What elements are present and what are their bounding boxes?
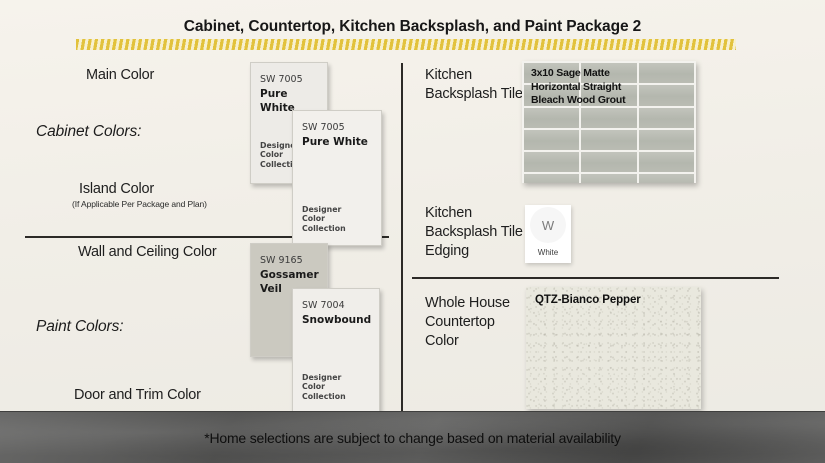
page-title: Cabinet, Countertop, Kitchen Backsplash,… bbox=[0, 18, 825, 36]
edging-swatch-label: White bbox=[525, 248, 571, 257]
right-section-divider bbox=[412, 277, 779, 279]
tile-unit bbox=[639, 108, 694, 128]
vertical-divider bbox=[401, 63, 403, 411]
tile-edging-swatch[interactable]: W White bbox=[525, 205, 571, 263]
paint-chip-name: Snowbound bbox=[302, 313, 370, 327]
paint-chip-card[interactable]: SW 7005 Pure White Designer Color Collec… bbox=[292, 110, 382, 246]
tile-unit bbox=[639, 63, 694, 83]
selection-sheet-slide: Cabinet, Countertop, Kitchen Backsplash,… bbox=[0, 0, 825, 463]
tile-unit bbox=[581, 152, 636, 172]
tile-swatch-caption: 3x10 Sage Matte Horizontal Straight Blea… bbox=[531, 67, 625, 108]
label-island-color: Island Color bbox=[79, 180, 154, 199]
gold-ribbon-divider bbox=[76, 39, 736, 50]
label-kitchen-backsplash-tile-edging: Kitchen Backsplash Tile Edging bbox=[425, 204, 525, 261]
paint-chip-code: SW 7005 bbox=[260, 73, 318, 86]
tile-unit bbox=[524, 130, 579, 150]
footer-band: *Home selections are subject to change b… bbox=[0, 411, 825, 463]
edging-glyph-icon: W bbox=[530, 207, 566, 243]
tile-unit bbox=[524, 108, 579, 128]
paint-chip-code: SW 7004 bbox=[302, 299, 370, 312]
tile-unit bbox=[581, 130, 636, 150]
label-island-color-note: (If Applicable Per Package and Plan) bbox=[72, 199, 207, 210]
label-wall-and-ceiling-color: Wall and Ceiling Color bbox=[78, 243, 238, 262]
tile-unit bbox=[639, 152, 694, 172]
countertop-swatch-caption: QTZ-Bianco Pepper bbox=[535, 294, 641, 306]
paint-chip-collection: Designer Color Collection bbox=[302, 205, 346, 234]
tile-unit bbox=[524, 174, 579, 183]
tile-unit bbox=[639, 130, 694, 150]
paint-chip-collection: Designer Color Collection bbox=[302, 373, 346, 402]
category-cabinet-colors: Cabinet Colors: bbox=[36, 123, 141, 141]
backsplash-tile-swatch[interactable]: 3x10 Sage Matte Horizontal Straight Blea… bbox=[522, 61, 696, 183]
tile-unit bbox=[581, 108, 636, 128]
paint-chip-card[interactable]: SW 7004 Snowbound Designer Color Collect… bbox=[292, 288, 380, 416]
label-whole-house-countertop-color: Whole House Countertop Color bbox=[425, 294, 530, 351]
label-main-color: Main Color bbox=[86, 66, 154, 85]
tile-unit bbox=[524, 152, 579, 172]
paint-chip-code: SW 7005 bbox=[302, 121, 372, 134]
tile-unit bbox=[581, 174, 636, 183]
paint-chip-name: Pure White bbox=[302, 135, 372, 149]
label-door-and-trim-color: Door and Trim Color bbox=[74, 386, 201, 405]
category-paint-colors: Paint Colors: bbox=[36, 318, 123, 336]
tile-unit bbox=[639, 85, 694, 105]
paint-chip-code: SW 9165 bbox=[260, 254, 318, 267]
countertop-swatch[interactable]: QTZ-Bianco Pepper bbox=[526, 287, 701, 409]
tile-unit bbox=[639, 174, 694, 183]
label-kitchen-backsplash-tile: Kitchen Backsplash Tile bbox=[425, 66, 525, 104]
footer-disclaimer: *Home selections are subject to change b… bbox=[204, 430, 621, 446]
